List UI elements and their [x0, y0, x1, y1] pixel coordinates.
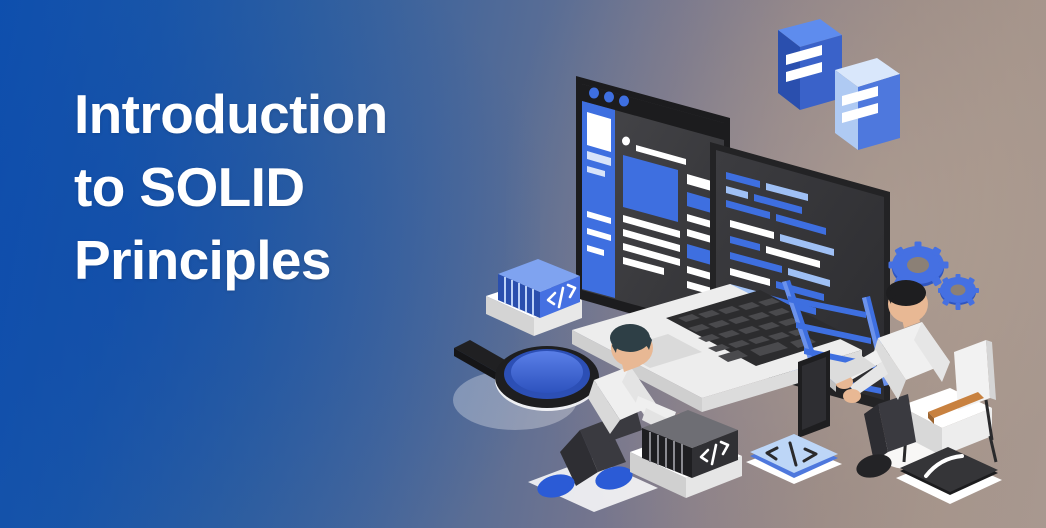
gear-small [938, 274, 979, 310]
floating-card-dark-blue [778, 19, 842, 110]
floating-card-light-blue [835, 58, 900, 150]
blue-code-stack [486, 259, 582, 336]
banner: Introduction to SOLID Principles [0, 0, 1046, 528]
code-diamond-card [746, 434, 842, 484]
hero-illustration [430, 0, 1046, 528]
